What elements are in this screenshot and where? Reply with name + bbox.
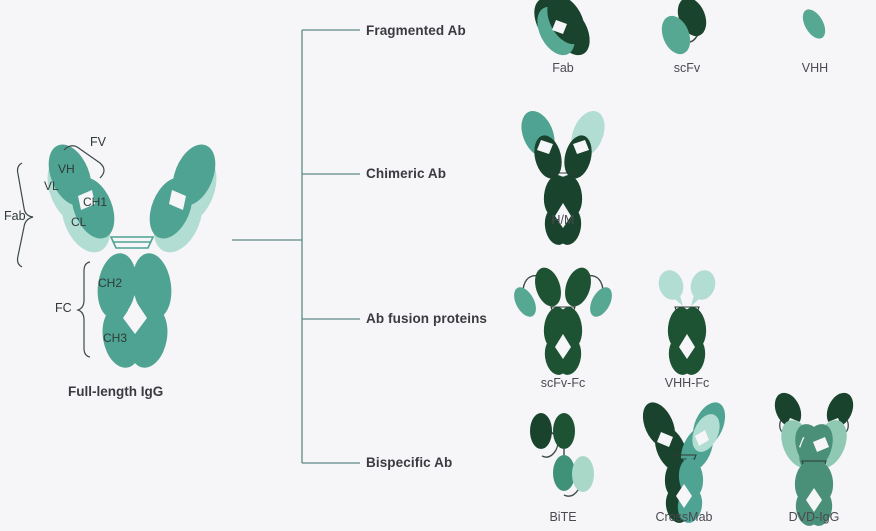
full-length-igg-title: Full-length IgG (68, 385, 163, 399)
label-ch2: CH2 (98, 277, 122, 289)
label-vh: VH (58, 163, 75, 175)
label-cl: CL (71, 216, 86, 228)
icon-fab (527, 0, 598, 61)
item-label-scfv-fc: scFv-Fc (513, 377, 613, 390)
label-fab: Fab (4, 210, 26, 223)
category-label-bispecific[interactable]: Bispecific Ab (366, 456, 452, 470)
label-ch1: CH1 (83, 196, 107, 208)
item-label-vhh: VHH (765, 62, 865, 75)
label-ch3: CH3 (103, 332, 127, 344)
icon-crossmab (636, 397, 731, 524)
icon-bite (530, 413, 594, 496)
label-fc: FC (55, 302, 72, 315)
category-label-fragmented[interactable]: Fragmented Ab (366, 24, 466, 38)
item-label-hm: H/M (513, 214, 613, 227)
diagram-vector-layer (0, 0, 876, 531)
icon-vhh-fc (655, 267, 719, 376)
item-label-fab: Fab (513, 62, 613, 75)
item-label-dvd-igg: DVD-IgG (764, 511, 864, 524)
category-label-chimeric[interactable]: Chimeric Ab (366, 167, 446, 181)
connector-tree (232, 30, 360, 463)
icon-scfv-fc (510, 264, 617, 376)
category-label-fusion[interactable]: Ab fusion proteins (366, 312, 487, 326)
item-label-scfv: scFv (637, 62, 737, 75)
label-fv: FV (90, 136, 106, 149)
diagram-canvas: VH VL CH1 CL CH2 CH3 FV Fab FC Full-leng… (0, 0, 876, 531)
icon-scfv (656, 0, 711, 58)
fc-bracket (78, 262, 90, 357)
item-label-bite: BiTE (513, 511, 613, 524)
icon-vhh (798, 6, 830, 43)
item-label-vhh-fc: VHH-Fc (637, 377, 737, 390)
item-label-crossmab: CrossMab (634, 511, 734, 524)
icon-dvd-igg (770, 389, 859, 528)
label-vl: VL (44, 180, 59, 192)
